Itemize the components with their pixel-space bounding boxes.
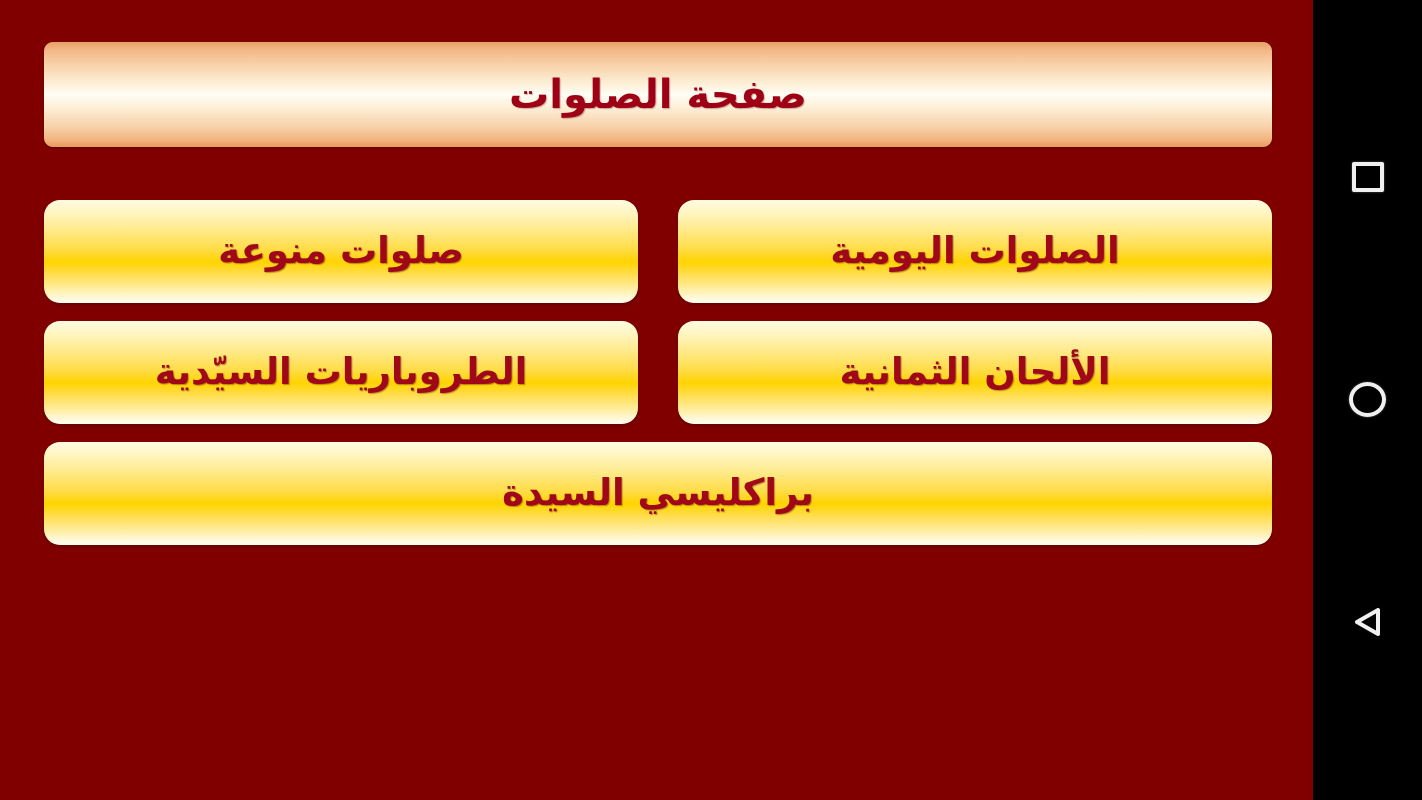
page-title: صفحة الصلوات xyxy=(509,75,807,115)
nav-home-button[interactable] xyxy=(1339,370,1397,428)
circle-outline-icon xyxy=(1349,382,1386,417)
square-outline-icon xyxy=(1352,162,1384,192)
page-title-banner: صفحة الصلوات xyxy=(44,42,1272,147)
app-content-area: صفحة الصلوات الصلوات اليومية صلوات منوعة… xyxy=(0,0,1313,800)
menu-button-lordly-troparia[interactable]: الطروباريات السيّدية xyxy=(44,321,638,424)
menu-row-2: الألحان الثمانية الطروباريات السيّدية xyxy=(44,321,1272,424)
menu-row-3: براكليسي السيدة xyxy=(44,442,1272,545)
menu-button-varied-prayers[interactable]: صلوات منوعة xyxy=(44,200,638,303)
menu-button-label: الصلوات اليومية xyxy=(830,231,1119,272)
menu-button-label: الطروباريات السيّدية xyxy=(155,352,528,393)
menu-row-1: الصلوات اليومية صلوات منوعة xyxy=(44,200,1272,303)
menu-button-label: الألحان الثمانية xyxy=(840,352,1111,393)
menu-button-eight-tones[interactable]: الألحان الثمانية xyxy=(678,321,1272,424)
nav-recents-button[interactable] xyxy=(1339,148,1397,206)
android-navigation-bar xyxy=(1313,0,1422,800)
menu-button-label: براكليسي السيدة xyxy=(502,473,814,514)
menu-button-grid: الصلوات اليومية صلوات منوعة الألحان الثم… xyxy=(44,200,1272,563)
nav-back-button[interactable] xyxy=(1339,593,1397,651)
menu-button-daily-prayers[interactable]: الصلوات اليومية xyxy=(678,200,1272,303)
device-screen: صفحة الصلوات الصلوات اليومية صلوات منوعة… xyxy=(0,0,1422,800)
menu-button-paraklesis-of-the-lady[interactable]: براكليسي السيدة xyxy=(44,442,1272,545)
menu-button-label: صلوات منوعة xyxy=(218,231,464,272)
triangle-left-outline-icon xyxy=(1348,602,1388,642)
